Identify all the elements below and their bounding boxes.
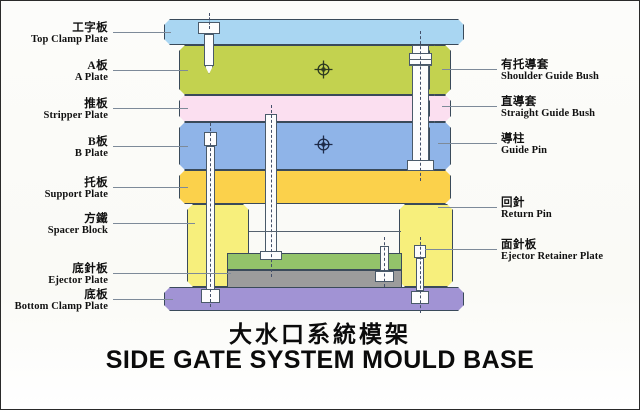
section-line-support	[249, 231, 401, 232]
cap-screw-shank	[204, 34, 214, 66]
label-bottom-clamp-plate: 底板 Bottom Clamp Plate	[15, 289, 108, 313]
part-spacer-block-right	[399, 204, 453, 287]
label-a-plate: A板 A Plate	[75, 60, 108, 84]
leader-bottom-clamp-plate	[113, 299, 173, 300]
cap-screw-centerline	[209, 13, 210, 29]
label-en: B Plate	[75, 148, 108, 159]
diagram-canvas: 工字板 Top Clamp Plate A板 A Plate 推板 Stripp…	[0, 0, 640, 410]
label-cn: 托板	[45, 177, 108, 189]
leader-return-pin	[438, 207, 497, 208]
label-en: Stripper Plate	[44, 110, 109, 121]
guide-pin-centerline	[420, 31, 421, 181]
label-en: Spacer Block	[48, 225, 108, 236]
leader-b-plate	[113, 146, 188, 147]
label-en: Return Pin	[501, 209, 552, 220]
right-return-pin-centerline	[384, 237, 385, 287]
label-en: Top Clamp Plate	[31, 34, 108, 45]
crosshair-target-icon	[314, 60, 333, 79]
label-en: Straight Guide Bush	[501, 108, 595, 119]
part-straight-guide-bush	[429, 95, 451, 122]
label-en: A Plate	[75, 72, 108, 83]
part-stripper-plate	[179, 95, 451, 122]
label-cn: 工字板	[31, 22, 108, 34]
leader-stripper-plate	[113, 108, 188, 109]
section-line-a-plate	[409, 59, 432, 60]
label-cn: B板	[75, 136, 108, 148]
leader-a-plate	[113, 70, 188, 71]
label-en: Ejector Plate	[48, 275, 108, 286]
crosshair-target-icon	[314, 135, 333, 154]
label-return-pin: 回針 Return Pin	[501, 197, 552, 221]
part-ejector-retainer-plate	[227, 253, 402, 270]
label-cn: 導柱	[501, 133, 547, 145]
label-b-plate: B板 B Plate	[75, 136, 108, 160]
part-shoulder-guide-bush	[429, 45, 451, 95]
label-en: Ejector Retainer Plate	[501, 251, 603, 262]
leader-spacer-block	[113, 223, 195, 224]
label-cn: 推板	[44, 98, 109, 110]
label-cn: 底板	[15, 289, 108, 301]
center-ejector-centerline	[271, 105, 272, 277]
label-ejector-plate: 底針板 Ejector Plate	[48, 263, 108, 287]
leader-guide-pin	[438, 143, 497, 144]
leader-ejector-retainer-plate	[425, 249, 497, 250]
title-english: SIDE GATE SYSTEM MOULD BASE	[1, 346, 639, 375]
return-pin-centerline	[210, 123, 211, 307]
label-cn: 面針板	[501, 239, 603, 251]
label-cn: 回針	[501, 197, 552, 209]
label-cn: 方鐵	[48, 213, 108, 225]
label-cn: 直導套	[501, 96, 595, 108]
leader-support-plate	[113, 187, 188, 188]
label-ejector-retainer-plate: 面針板 Ejector Retainer Plate	[501, 239, 603, 263]
label-guide-pin: 導柱 Guide Pin	[501, 133, 547, 157]
leader-straight-guide-bush	[442, 106, 497, 107]
label-top-clamp-plate: 工字板 Top Clamp Plate	[31, 22, 108, 46]
label-cn: 有托導套	[501, 59, 599, 71]
ejector-bolt-centerline	[420, 237, 421, 313]
label-en: Bottom Clamp Plate	[15, 301, 108, 312]
label-shoulder-guide-bush: 有托導套 Shoulder Guide Bush	[501, 59, 599, 83]
label-spacer-block: 方鐵 Spacer Block	[48, 213, 108, 237]
label-stripper-plate: 推板 Stripper Plate	[44, 98, 109, 122]
label-cn: 底針板	[48, 263, 108, 275]
label-support-plate: 托板 Support Plate	[45, 177, 108, 201]
part-support-plate	[179, 170, 451, 204]
label-en: Guide Pin	[501, 145, 547, 156]
leader-ejector-plate	[113, 273, 231, 274]
leader-top-clamp-plate	[113, 32, 171, 33]
section-line-a-plate-2	[409, 65, 432, 66]
label-en: Support Plate	[45, 189, 108, 200]
label-straight-guide-bush: 直導套 Straight Guide Bush	[501, 96, 595, 120]
label-en: Shoulder Guide Bush	[501, 71, 599, 82]
label-cn: A板	[75, 60, 108, 72]
leader-shoulder-guide-bush	[442, 69, 497, 70]
title-chinese: 大水口系統模架	[1, 315, 639, 349]
